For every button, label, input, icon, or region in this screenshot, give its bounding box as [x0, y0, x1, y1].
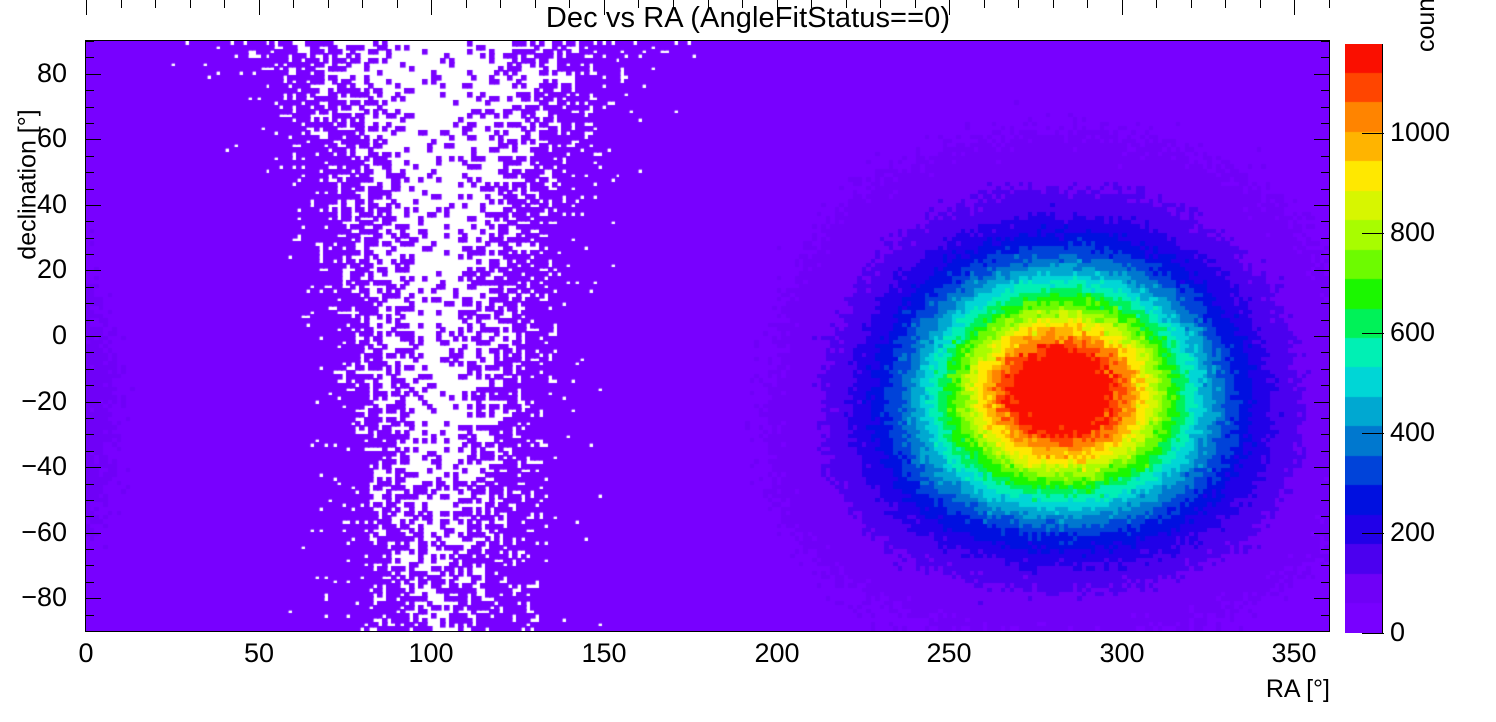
- x-tick-top: [708, 0, 709, 8]
- y-tick: [86, 369, 94, 370]
- y-tick-right: [1321, 238, 1329, 239]
- y-tick: [86, 270, 101, 271]
- y-tick-label: −20: [21, 388, 67, 415]
- x-tick-top: [155, 0, 156, 8]
- x-axis-title: RA [°]: [1200, 675, 1330, 704]
- x-tick-top: [569, 0, 570, 8]
- x-tick-top: [984, 0, 985, 8]
- y-tick-right: [1321, 303, 1329, 304]
- y-tick-right: [1321, 418, 1329, 419]
- y-tick: [86, 287, 94, 288]
- y-tick-right: [1314, 139, 1329, 140]
- y-tick-right: [1321, 107, 1329, 108]
- x-tick-top: [293, 0, 294, 8]
- y-tick: [86, 123, 94, 124]
- y-tick: [86, 221, 94, 222]
- y-tick-right: [1321, 172, 1329, 173]
- y-tick: [86, 74, 101, 75]
- color-bar-tick-label: 0: [1390, 619, 1405, 646]
- x-tick-top: [466, 0, 467, 8]
- y-tick-right: [1321, 582, 1329, 583]
- x-tick-top: [1087, 0, 1088, 8]
- x-tick-top: [362, 0, 363, 8]
- x-tick-top: [1156, 0, 1157, 8]
- color-bar-tick: [1362, 433, 1384, 434]
- y-tick: [86, 598, 101, 599]
- x-tick-label: 200: [717, 640, 837, 667]
- color-bar-tick-label: 600: [1390, 319, 1435, 346]
- x-tick-label: 0: [26, 640, 146, 667]
- y-tick: [86, 254, 94, 255]
- y-tick: [86, 139, 101, 140]
- y-tick-label: −40: [21, 453, 67, 480]
- x-tick-label: 150: [544, 640, 664, 667]
- y-tick: [86, 238, 94, 239]
- y-tick-right: [1314, 402, 1329, 403]
- y-tick-right: [1321, 385, 1329, 386]
- y-tick-right: [1321, 352, 1329, 353]
- y-tick-label: 0: [52, 322, 67, 349]
- x-tick-top: [915, 0, 916, 8]
- color-bar-tick: [1362, 633, 1384, 634]
- y-tick-right: [1321, 123, 1329, 124]
- y-tick-label: −60: [21, 519, 67, 546]
- x-tick-top: [777, 0, 778, 15]
- y-tick-right: [1321, 189, 1329, 190]
- color-bar-tick: [1362, 133, 1384, 134]
- y-tick-right: [1321, 320, 1329, 321]
- y-tick: [86, 189, 94, 190]
- x-tick-top: [431, 0, 432, 15]
- x-tick-top: [673, 0, 674, 8]
- y-tick-right: [1314, 533, 1329, 534]
- x-tick-label: 100: [371, 640, 491, 667]
- color-bar-tick-label: 200: [1390, 519, 1435, 546]
- x-tick-top: [1225, 0, 1226, 8]
- y-tick: [86, 565, 94, 566]
- y-tick-right: [1321, 41, 1329, 42]
- y-tick: [86, 451, 94, 452]
- x-tick-top: [535, 0, 536, 8]
- color-bar-tick: [1362, 333, 1384, 334]
- color-bar-tick: [1362, 533, 1384, 534]
- y-tick: [86, 90, 94, 91]
- x-tick-top: [949, 0, 950, 15]
- x-tick-top: [604, 0, 605, 15]
- y-tick-right: [1314, 205, 1329, 206]
- y-tick: [86, 385, 94, 386]
- color-bar-tick: [1362, 233, 1384, 234]
- x-tick-top: [1260, 0, 1261, 8]
- x-tick-top: [121, 0, 122, 8]
- x-tick-top: [224, 0, 225, 8]
- y-tick: [86, 303, 94, 304]
- y-tick-right: [1314, 336, 1329, 337]
- x-tick-top: [328, 0, 329, 8]
- y-tick-right: [1321, 254, 1329, 255]
- y-tick-right: [1321, 484, 1329, 485]
- x-tick-top: [811, 0, 812, 8]
- y-tick-label: −80: [21, 584, 67, 611]
- x-tick-top: [1294, 0, 1295, 15]
- y-tick-right: [1321, 631, 1329, 632]
- y-tick-right: [1321, 287, 1329, 288]
- y-tick: [86, 467, 101, 468]
- color-bar-tick-label: 800: [1390, 219, 1435, 246]
- y-tick-right: [1321, 516, 1329, 517]
- y-tick: [86, 500, 94, 501]
- y-tick: [86, 41, 94, 42]
- x-tick-top: [500, 0, 501, 8]
- y-tick: [86, 205, 101, 206]
- y-axis-title: declination [°]: [14, 85, 43, 285]
- y-tick-right: [1321, 451, 1329, 452]
- x-tick-label: 300: [1062, 640, 1182, 667]
- x-tick-top: [190, 0, 191, 8]
- x-tick-top: [397, 0, 398, 8]
- x-tick-top: [1191, 0, 1192, 8]
- y-tick-right: [1321, 565, 1329, 566]
- y-tick: [86, 336, 101, 337]
- y-tick-right: [1321, 90, 1329, 91]
- x-tick-top: [1329, 0, 1330, 8]
- y-tick: [86, 631, 94, 632]
- y-tick-label: 80: [37, 60, 67, 87]
- plot-page: Dec vs RA (AngleFitStatus==0) −80−60−40−…: [0, 0, 1496, 722]
- color-bar-tick-label: 1000: [1390, 119, 1450, 146]
- y-tick-right: [1321, 369, 1329, 370]
- x-tick-top: [1122, 0, 1123, 15]
- x-tick-top: [1018, 0, 1019, 8]
- x-tick-label: 50: [199, 640, 319, 667]
- y-tick: [86, 615, 94, 616]
- y-tick: [86, 107, 94, 108]
- plot-frame: [85, 40, 1330, 632]
- y-tick-right: [1321, 500, 1329, 501]
- x-tick-label: 350: [1234, 640, 1354, 667]
- x-tick-top: [638, 0, 639, 8]
- color-bar-tick-label: 400: [1390, 419, 1435, 446]
- y-tick: [86, 549, 94, 550]
- y-tick: [86, 434, 94, 435]
- y-tick: [86, 57, 94, 58]
- x-tick-top: [846, 0, 847, 8]
- x-tick-top: [880, 0, 881, 8]
- y-tick: [86, 156, 94, 157]
- x-tick-top: [742, 0, 743, 8]
- y-tick-right: [1321, 156, 1329, 157]
- y-tick-right: [1314, 270, 1329, 271]
- y-tick-right: [1321, 57, 1329, 58]
- y-tick-right: [1321, 615, 1329, 616]
- heatmap-canvas: [86, 41, 1329, 631]
- y-tick-right: [1321, 221, 1329, 222]
- y-tick-right: [1314, 598, 1329, 599]
- y-tick: [86, 172, 94, 173]
- y-tick: [86, 582, 94, 583]
- y-tick-right: [1321, 434, 1329, 435]
- x-tick-top: [1053, 0, 1054, 8]
- y-tick: [86, 516, 94, 517]
- y-tick-right: [1321, 549, 1329, 550]
- y-tick: [86, 352, 94, 353]
- y-tick: [86, 533, 101, 534]
- color-bar-title: count: [1412, 0, 1441, 52]
- x-tick-top: [86, 0, 87, 15]
- y-tick-right: [1314, 467, 1329, 468]
- y-tick: [86, 484, 94, 485]
- y-tick: [86, 320, 94, 321]
- y-tick: [86, 402, 101, 403]
- y-tick-right: [1314, 74, 1329, 75]
- y-tick: [86, 418, 94, 419]
- x-tick-top: [259, 0, 260, 15]
- x-tick-label: 250: [889, 640, 1009, 667]
